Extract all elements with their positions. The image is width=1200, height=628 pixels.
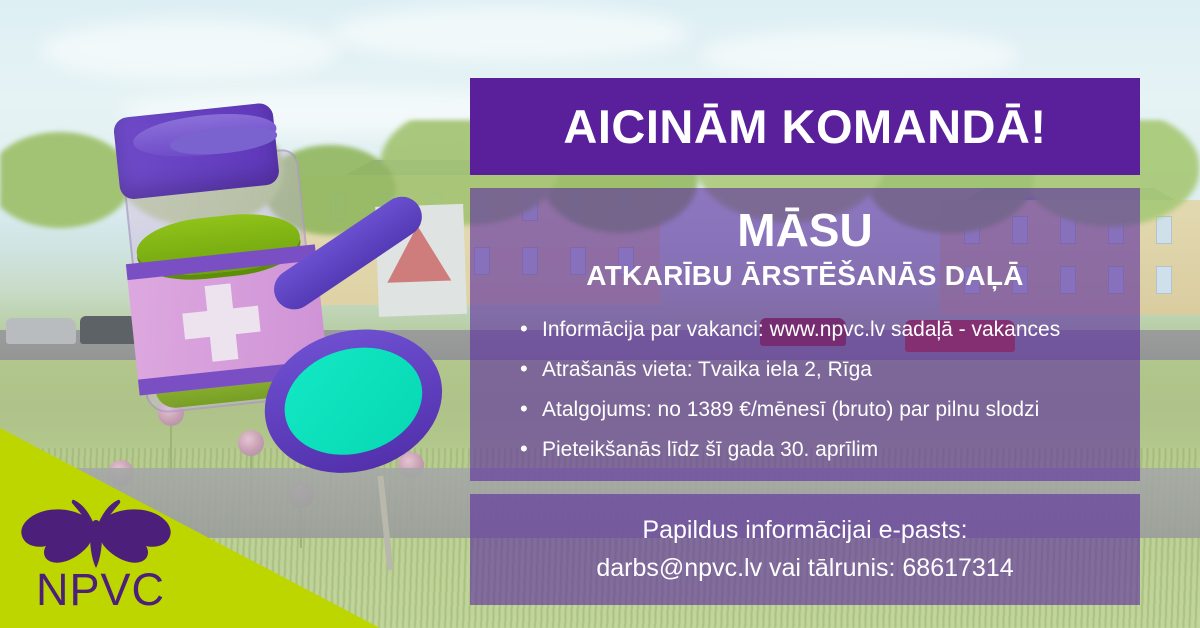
list-item: Atalgojums: no 1389 €/mēnesī (bruto) par…: [520, 394, 1116, 426]
parked-car: [6, 318, 76, 344]
position-title: MĀSU: [494, 206, 1116, 254]
details-list: Informācija par vakanci: www.npvc.lv sad…: [520, 314, 1116, 466]
cloud: [330, 6, 690, 60]
npvc-logo: NPVC: [16, 498, 176, 618]
logo-text: NPVC: [36, 567, 165, 612]
department-name: ATKARĪBU ĀRSTĒŠANĀS DAĻĀ: [494, 260, 1116, 292]
contact-label: Papildus informācijai e-pasts:: [642, 515, 967, 546]
list-item: Atrašanās vieta: Tvaika iela 2, Rīga: [520, 354, 1116, 386]
cloud: [700, 30, 1020, 80]
contact-panel: Papildus informācijai e-pasts: darbs@npv…: [470, 494, 1140, 605]
main-content-panel: MĀSU ATKARĪBU ĀRSTĒŠANĀS DAĻĀ Informācij…: [470, 188, 1140, 481]
header-banner: AICINĀM KOMANDĀ!: [470, 78, 1140, 175]
list-item: Informācija par vakanci: www.npvc.lv sad…: [520, 314, 1116, 346]
contact-details: darbs@npvc.lv vai tālrunis: 68617314: [596, 553, 1013, 584]
cloud: [40, 20, 340, 80]
page-title: AICINĀM KOMANDĀ!: [563, 99, 1046, 154]
job-ad-poster: NPVC AICINĀM KOMANDĀ! MĀSU ATKARĪBU ĀRST…: [0, 0, 1200, 628]
medicine-bottle-magnifier-icon: [101, 84, 364, 436]
list-item: Pieteikšanās līdz šī gada 30. aprīlim: [520, 434, 1116, 466]
